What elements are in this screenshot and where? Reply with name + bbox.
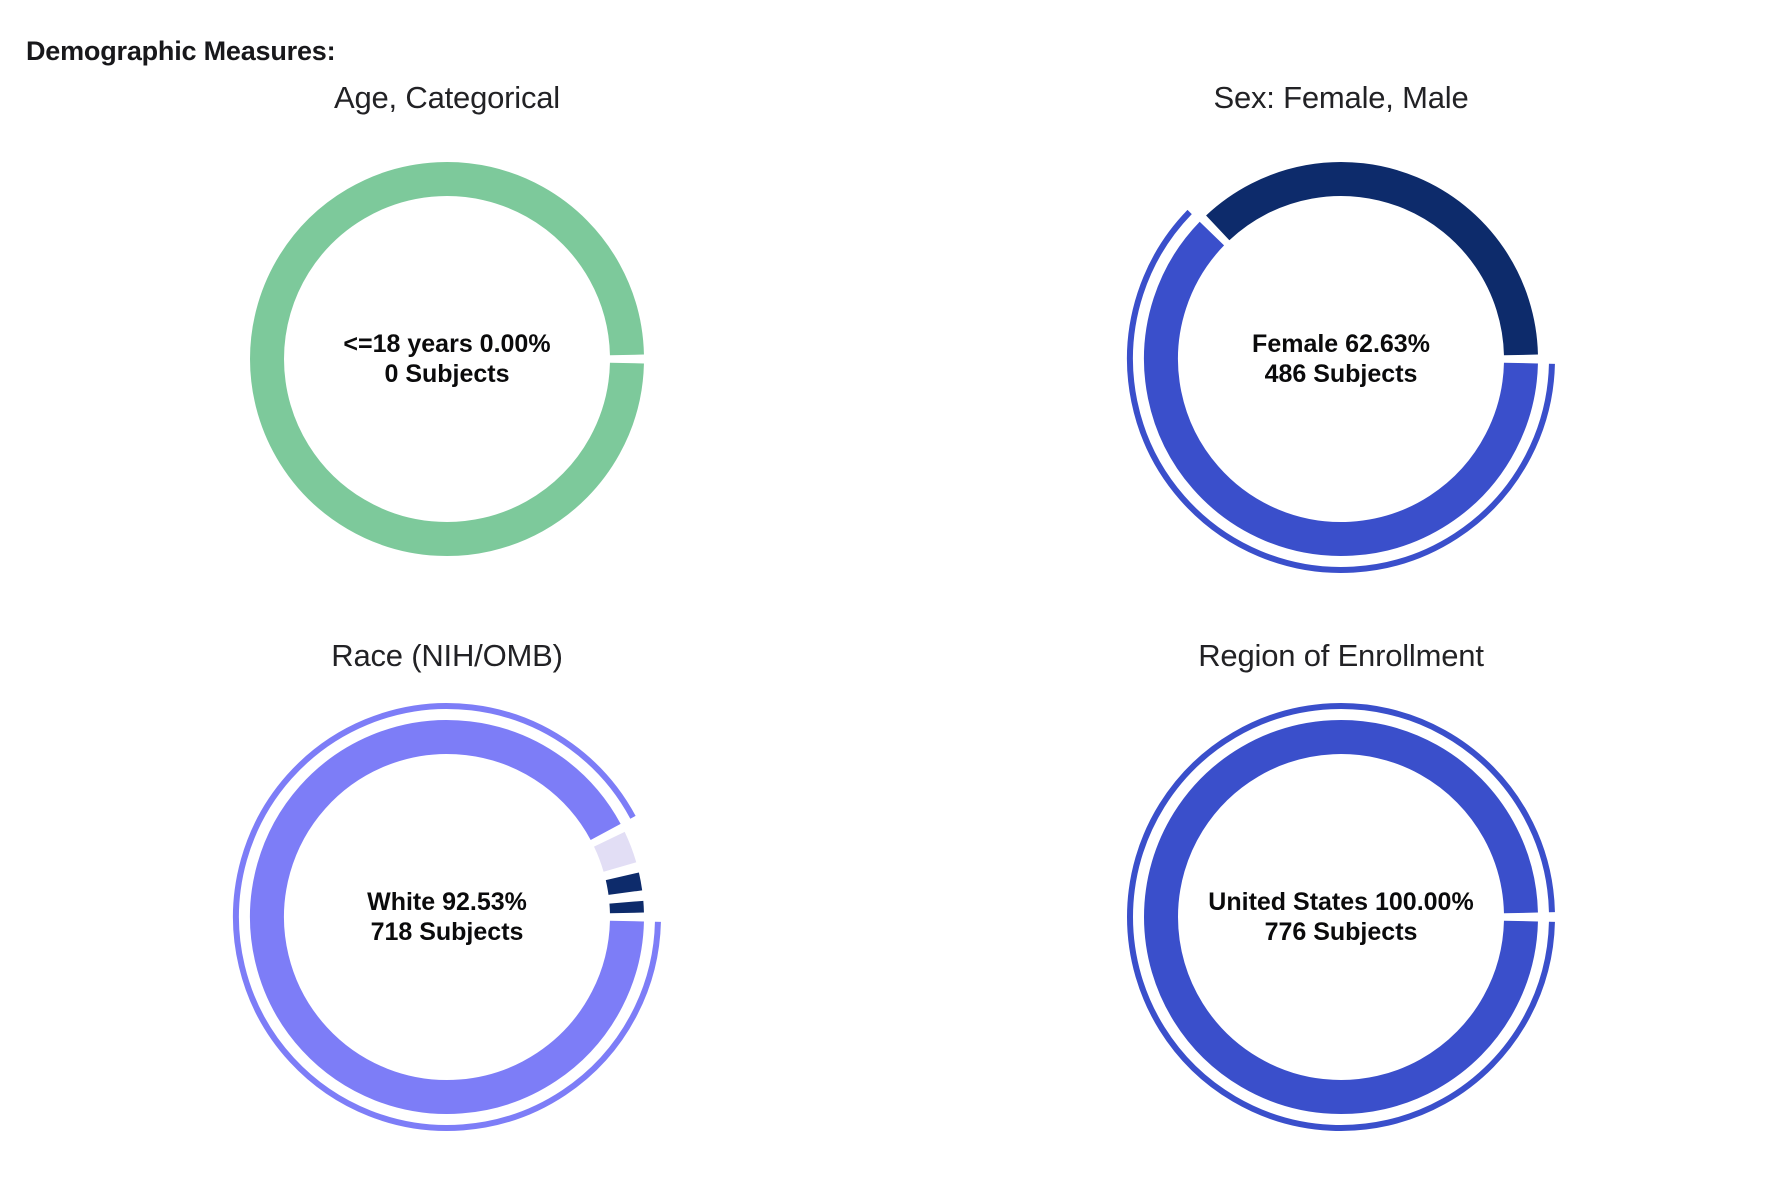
donut-segment-3[interactable]: [622, 876, 625, 892]
donut-segment-0[interactable]: [267, 179, 627, 539]
donut-chart-race-nih-omb[interactable]: White 92.53% 718 Subjects: [212, 682, 682, 1152]
donut-segment-0[interactable]: [1161, 234, 1521, 539]
donut-svg-age-categorical[interactable]: [212, 124, 682, 594]
chart-title-region-of-enrollment: Region of Enrollment: [1198, 638, 1484, 674]
chart-title-race-nih-omb: Race (NIH/OMB): [331, 638, 562, 674]
donut-chart-age-categorical[interactable]: <=18 years 0.00% 0 Subjects: [212, 124, 682, 594]
donut-svg-sex[interactable]: [1106, 124, 1576, 594]
donut-svg-region-of-enrollment[interactable]: [1106, 682, 1576, 1152]
charts-grid: Age, Categorical <=18 years 0.00% 0 Subj…: [0, 72, 1788, 1188]
page-title: Demographic Measures:: [26, 36, 335, 67]
donut-segment-0[interactable]: [267, 737, 627, 1097]
donut-segment-1[interactable]: [1218, 179, 1521, 355]
chart-card-region-of-enrollment[interactable]: Region of Enrollment United States 100.0…: [894, 630, 1788, 1188]
donut-segment-5[interactable]: [626, 902, 627, 913]
chart-title-sex: Sex: Female, Male: [1213, 80, 1468, 116]
chart-title-age-categorical: Age, Categorical: [334, 80, 560, 116]
donut-segment-0[interactable]: [1161, 737, 1521, 1097]
donut-chart-region-of-enrollment[interactable]: United States 100.00% 776 Subjects: [1106, 682, 1576, 1152]
chart-card-sex[interactable]: Sex: Female, Male Female 62.63% 486 Subj…: [894, 72, 1788, 630]
chart-card-age-categorical[interactable]: Age, Categorical <=18 years 0.00% 0 Subj…: [0, 72, 894, 630]
donut-chart-sex[interactable]: Female 62.63% 486 Subjects: [1106, 124, 1576, 594]
donut-segment-1[interactable]: [609, 839, 620, 867]
donut-highlight-arc[interactable]: [1130, 706, 1552, 1128]
chart-card-race-nih-omb[interactable]: Race (NIH/OMB) White 92.53% 718 Subjects: [0, 630, 894, 1188]
donut-highlight-arc[interactable]: [236, 706, 658, 1128]
donut-svg-race-nih-omb[interactable]: [212, 682, 682, 1152]
